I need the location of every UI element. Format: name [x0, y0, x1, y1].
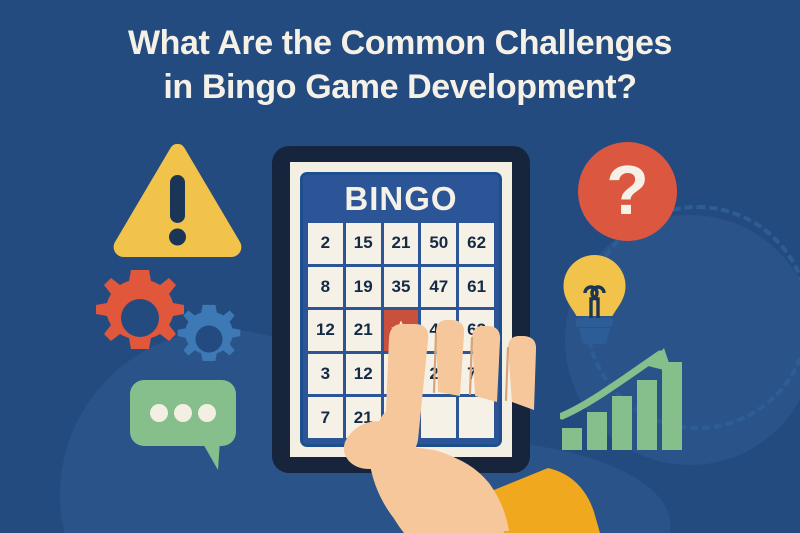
chat-bubble-icon — [128, 378, 238, 475]
bingo-cell[interactable]: 21 — [384, 223, 419, 264]
warning-triangle-icon — [110, 142, 245, 265]
page-title: What Are the Common Challenges in Bingo … — [0, 22, 800, 109]
bingo-card-header: BINGO — [303, 175, 499, 222]
bingo-cell[interactable]: 50 — [421, 223, 456, 264]
question-mark-icon: ? — [578, 142, 677, 246]
svg-text:?: ? — [606, 151, 649, 229]
gear-small-icon — [172, 302, 246, 381]
bingo-cell[interactable]: 62 — [459, 223, 494, 264]
poster-canvas: What Are the Common Challenges in Bingo … — [0, 0, 800, 533]
page-title-line-1: What Are the Common Challenges — [0, 22, 800, 66]
pointing-hand-icon — [330, 300, 630, 533]
page-title-line-2: in Bingo Game Development? — [0, 66, 800, 110]
bingo-cell[interactable]: 15 — [346, 223, 381, 264]
bingo-cell[interactable]: 2 — [308, 223, 343, 264]
